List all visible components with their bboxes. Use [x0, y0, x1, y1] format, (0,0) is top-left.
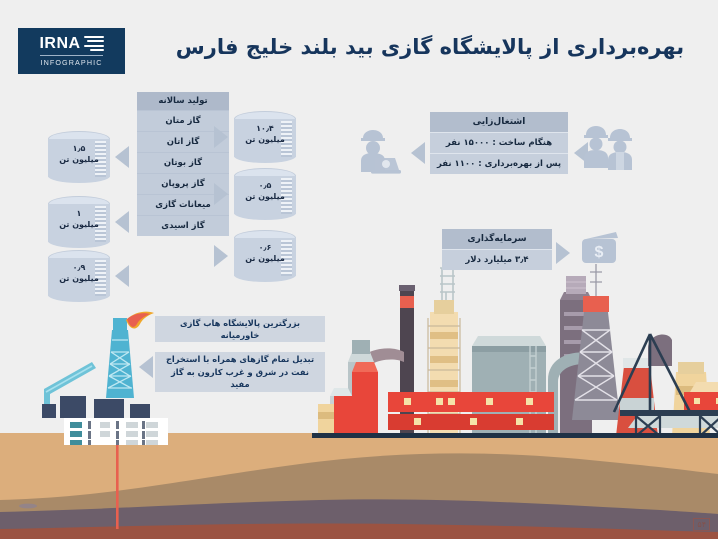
left-tank-2: ۰٫۹ میلیون تن	[48, 250, 110, 302]
investment-value: ۳٫۴ میلیارد دلار	[442, 249, 552, 270]
left-tank-1: ۱ میلیون تن	[48, 196, 110, 248]
logo-row: IRNA	[39, 36, 103, 52]
wallet-dollar-icon: $	[578, 230, 622, 272]
left-tank-2-label: ۰٫۹ میلیون تن	[48, 263, 110, 285]
irna-bars-icon	[84, 36, 104, 51]
irna-logo[interactable]: IRNA INFOGRAPHIC	[18, 28, 125, 74]
logo-subtitle: INFOGRAPHIC	[40, 55, 102, 67]
production-list: تولید سالانه گاز متان گاز اتان گاز بوتان…	[137, 92, 229, 236]
worker-with-laptop-icon	[355, 128, 401, 176]
arrow-to-left-tank-0-icon	[115, 146, 129, 168]
infographic-canvas: IRNA INFOGRAPHIC بهره‌برداری از پالایشگا…	[0, 0, 718, 539]
production-item-2[interactable]: گاز بوتان	[137, 153, 229, 173]
right-tank-2-label: ۰٫۶ میلیون تن	[234, 243, 296, 265]
svg-text:$: $	[595, 244, 604, 261]
callout-0: بزرگترین پالایشگاه هاب گازی خاورمیانه	[155, 316, 325, 342]
investment-arrow-icon	[556, 242, 570, 264]
right-tank-1-label: ۰٫۵ میلیون تن	[234, 181, 296, 203]
callout-1: تبدیل تمام گازهای همراه با استخراج نفت د…	[155, 352, 325, 392]
arrow-to-left-tank-1-icon	[115, 211, 129, 233]
left-tank-1-label: ۱ میلیون تن	[48, 209, 110, 231]
left-tank-0: ۱٫۵ میلیون تن	[48, 131, 110, 183]
page-title: بهره‌برداری از پالایشگاه گازی بید بلند خ…	[160, 32, 700, 64]
production-list-header: تولید سالانه	[137, 92, 229, 110]
right-tank-2: ۰٫۶ میلیون تن	[234, 230, 296, 282]
employment-title: اشتغال‌زایی	[430, 112, 568, 132]
ground-layers	[0, 433, 718, 539]
logo-name: IRNA	[39, 36, 80, 52]
two-workers-icon	[582, 122, 636, 172]
right-tank-1: ۰٫۵ میلیون تن	[234, 168, 296, 220]
employment-row-0: هنگام ساخت : ۱۵۰۰۰ نفر	[430, 132, 568, 153]
arrow-to-left-tank-2-icon	[115, 265, 129, 287]
arrow-to-right-tank-0-icon	[214, 126, 228, 148]
employment-left-arrow-icon	[411, 142, 425, 164]
page-number: ۵۴	[693, 518, 710, 531]
right-tank-0-label: ۱۰٫۴ میلیون تن	[234, 124, 296, 146]
arrow-to-right-tank-1-icon	[214, 183, 228, 205]
investment-panel: سرمایه‌گذاری ۳٫۴ میلیارد دلار	[442, 229, 552, 270]
investment-title: سرمایه‌گذاری	[442, 229, 552, 249]
callout-arrow-icon	[139, 356, 153, 378]
production-item-5[interactable]: گاز اسیدی	[137, 216, 229, 236]
arrow-to-right-tank-2-icon	[214, 245, 228, 267]
drill-pipe-icon	[116, 433, 119, 529]
employment-row-1: پس از بهره‌برداری : ۱۱۰۰ نفر	[430, 153, 568, 174]
employment-panel: اشتغال‌زایی هنگام ساخت : ۱۵۰۰۰ نفر پس از…	[430, 112, 568, 174]
left-tank-0-label: ۱٫۵ میلیون تن	[48, 144, 110, 166]
right-tank-0: ۱۰٫۴ میلیون تن	[234, 111, 296, 163]
